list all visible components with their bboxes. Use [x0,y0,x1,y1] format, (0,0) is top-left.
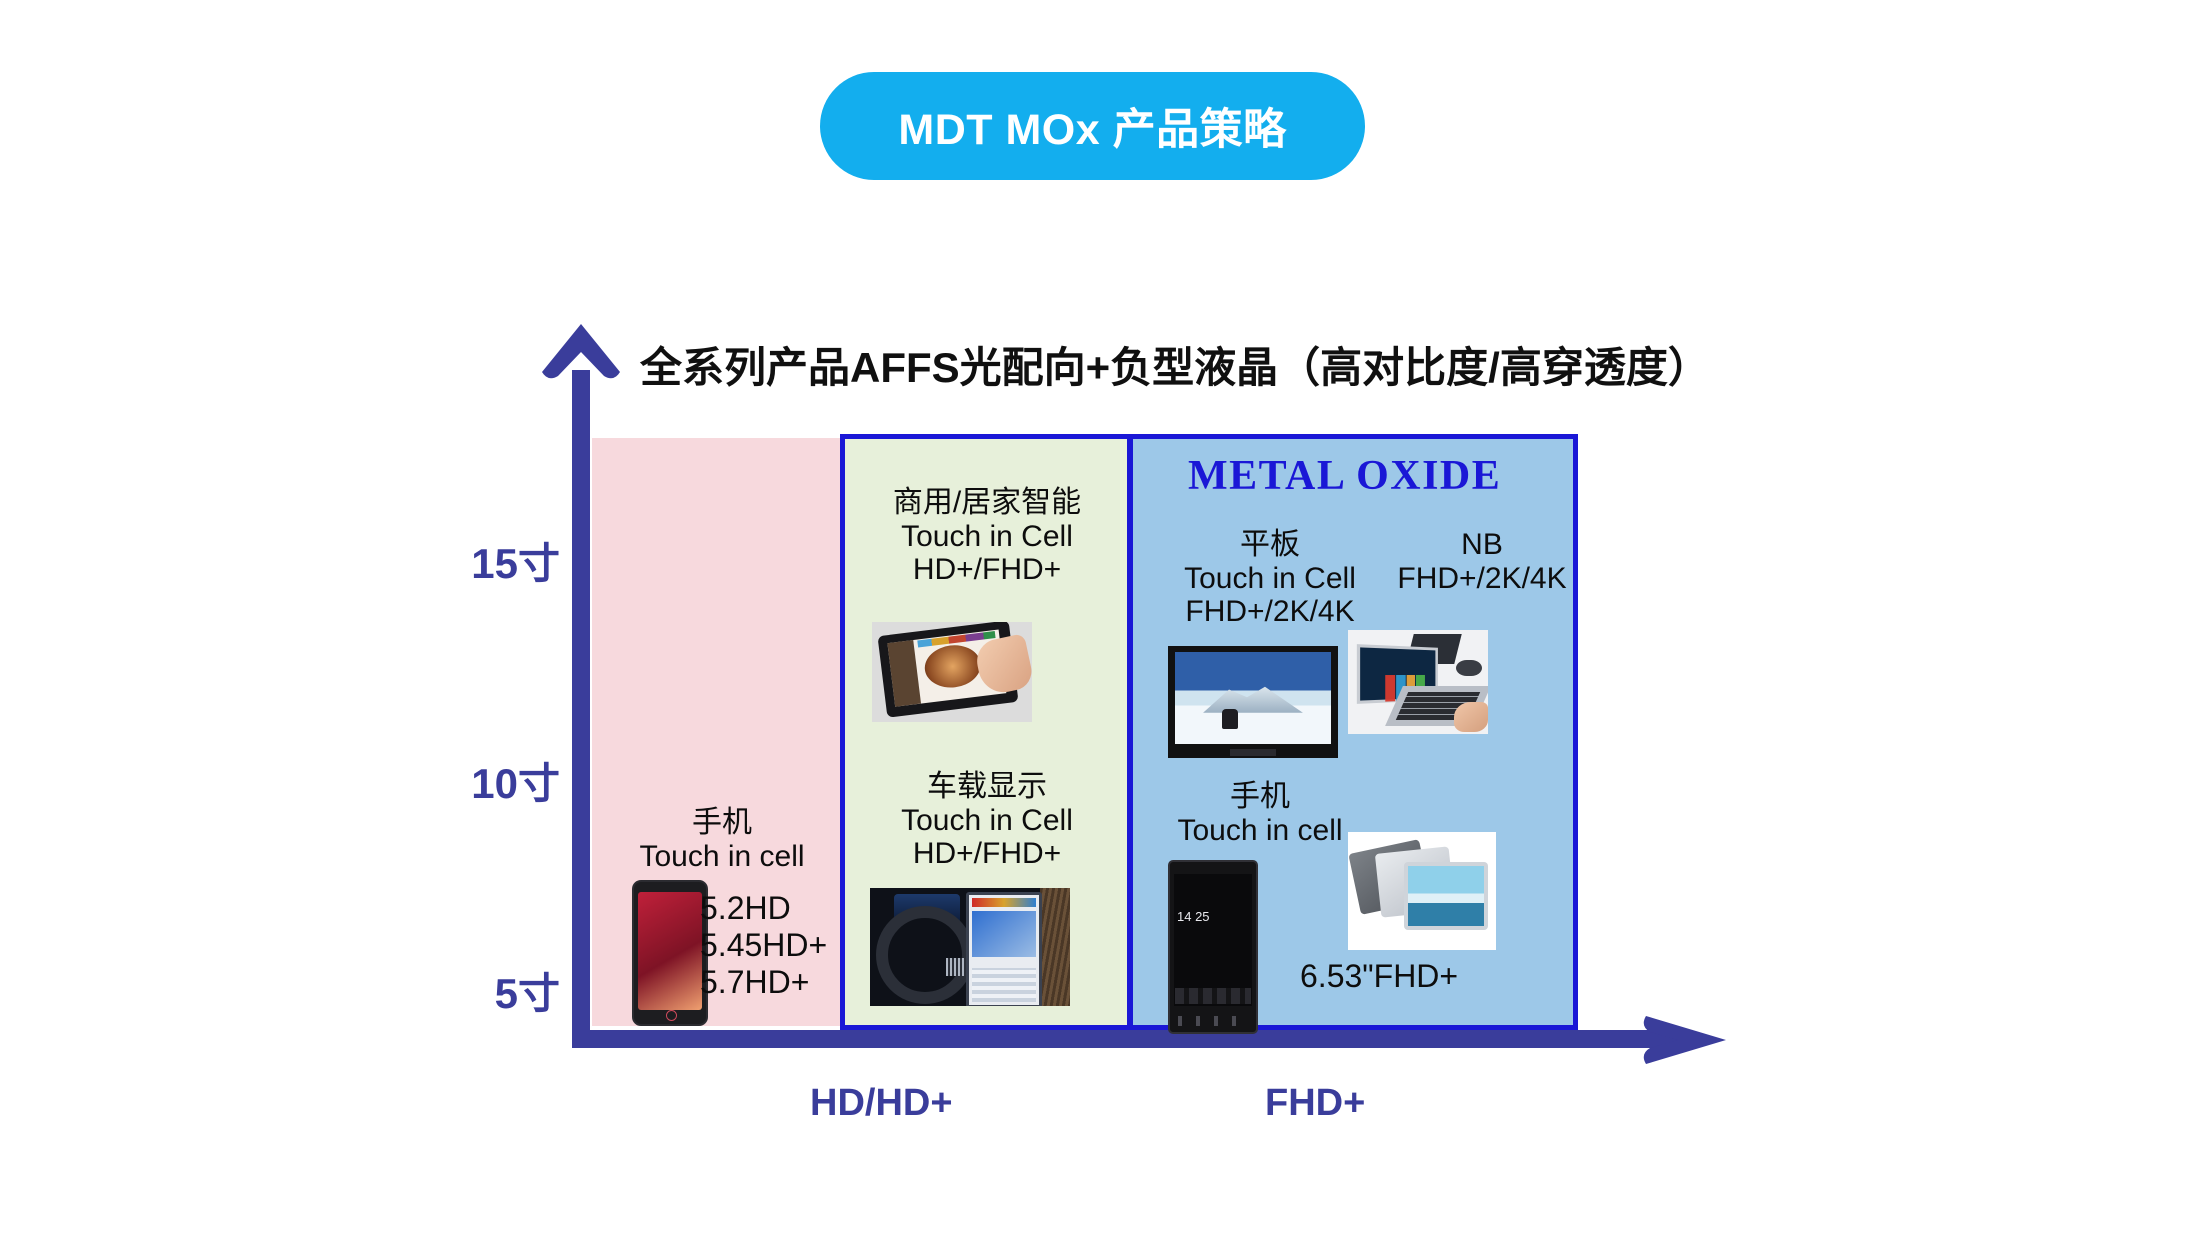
green-bottom-res: HD+/FHD+ [852,837,1122,871]
blue-nb-title: NB [1382,528,1582,562]
green-top-title-en: Touch in Cell [852,520,1122,554]
x-axis-label-hd: HD/HD+ [810,1082,953,1125]
pink-spec-2: 5.45HD+ [700,927,827,964]
laptop-desk-photo [1348,630,1488,734]
skier-figure [1222,709,1238,729]
car-display-content-bottom [972,968,1036,1002]
blue-phone-title-en: Touch in cell [1150,814,1370,848]
monitor-screen [1175,652,1331,744]
blue-tablet-title-en: Touch in Cell [1150,562,1390,596]
monitor-stand [1230,749,1276,756]
monitor-snow-photo [1168,646,1338,758]
green-bottom-title-en: Touch in Cell [852,804,1122,838]
car-wood-trim [1040,888,1070,1006]
x-axis-line [572,1030,1682,1048]
blue-tablet-title-cn: 平板 [1150,528,1390,562]
smartphone-red-photo [632,880,708,1026]
car-steering-wheel [876,906,974,1004]
car-center-display [966,892,1042,1006]
pink-panel-labels: 手机 Touch in cell [612,806,832,873]
y-axis-label-10: 10寸 [400,750,560,811]
blue-phone-labels: 手机 Touch in cell [1150,780,1370,847]
x-axis-label-fhd: FHD+ [1265,1082,1365,1125]
green-top-res: HD+/FHD+ [852,553,1122,587]
slide-canvas: MDT MOx 产品策略 全系列产品AFFS光配向+负型液晶（高对比度/高穿透度… [0,0,2204,1237]
y-axis-label-5: 5寸 [400,960,560,1021]
green-top-labels: 商用/居家智能 Touch in Cell HD+/FHD+ [852,486,1122,587]
green-bottom-labels: 车载显示 Touch in Cell HD+/FHD+ [852,770,1122,871]
metal-oxide-heading: METAL OXIDE [1188,452,1501,500]
blue-tablet-labels: 平板 Touch in Cell FHD+/2K/4K [1150,528,1390,629]
phone-nav-bar [1178,1016,1248,1026]
car-display-content-top [972,911,1036,957]
pink-title-cn: 手机 [612,806,832,840]
up-arrow-icon [540,322,622,388]
tablet-food-app-photo [872,622,1032,722]
slide-title-text: MDT MOx 产品策略 [898,95,1286,157]
car-dashboard-photo [870,888,1070,1006]
right-arrow-icon [1638,1004,1730,1076]
slide-title-pill: MDT MOx 产品策略 [820,72,1365,180]
y-axis-label-15: 15寸 [400,530,560,591]
header-note: 全系列产品AFFS光配向+负型液晶（高对比度/高穿透度） [640,334,1710,395]
blue-nb-res: FHD+/2K/4K [1382,562,1582,596]
phone-app-dock [1175,988,1251,1004]
pink-spec-3: 5.7HD+ [700,964,827,1001]
blue-phone-title-cn: 手机 [1150,780,1370,814]
y-axis-line [572,370,590,1048]
pink-spec-1: 5.2HD [700,890,827,927]
blue-nb-labels: NB FHD+/2K/4K [1382,528,1582,595]
smartphone-black-photo: 14 25 [1168,860,1258,1034]
tablet-sidebar [887,640,921,707]
car-display-toolbar [972,898,1036,907]
blue-phone-res: 6.53"FHD+ [1300,958,1458,995]
laptop-stack-photo [1348,832,1496,950]
phone-screen [638,892,702,1010]
green-bottom-title-cn: 车载显示 [852,770,1122,804]
pink-title-en: Touch in cell [612,840,832,874]
phone-home-button [666,1010,677,1021]
laptop-stack-item-3 [1404,862,1488,930]
snow-mountain-image [1203,685,1303,713]
black-phone-screen [1174,874,1252,1006]
phone-clock-widget: 14 25 [1177,910,1210,923]
blue-tablet-res: FHD+/2K/4K [1150,595,1390,629]
computer-mouse-icon [1456,660,1482,676]
pink-spec-list: 5.2HD 5.45HD+ 5.7HD+ [700,890,827,1001]
green-top-title-cn: 商用/居家智能 [852,486,1122,520]
hand-on-desk-icon [1454,702,1488,732]
laptop-stack-screen [1408,866,1484,926]
tablet-food-image [922,642,983,691]
